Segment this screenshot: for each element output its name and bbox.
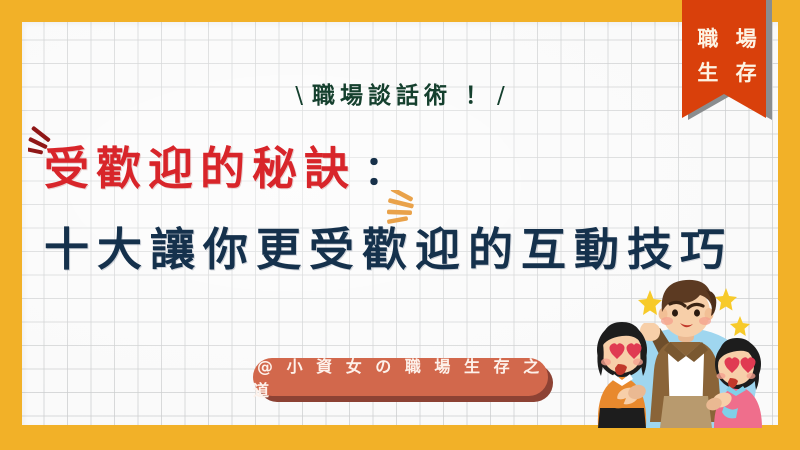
subtitle-slash-left: \	[291, 83, 312, 109]
three-people-cheering-illustration	[588, 268, 784, 428]
subtitle-slash-right: /	[493, 83, 514, 109]
ribbon-line-2: 生 存	[682, 56, 772, 90]
slide-canvas: 職 場 生 存 \職場談話術 ！/ 受歡迎的秘訣 ： 十	[0, 0, 800, 450]
subtitle: \職場談話術 ！/	[0, 76, 800, 110]
frame-band-bottom	[0, 425, 800, 450]
spark-mark-dark-red-icon	[28, 126, 62, 165]
frame-band-top	[0, 0, 800, 22]
subtitle-text: 職場談話術 ！	[312, 83, 493, 109]
title-line-1-text: 受歡迎的秘訣	[44, 142, 356, 196]
ribbon-text-block: 職 場 生 存	[682, 22, 772, 90]
corner-ribbon: 職 場 生 存	[682, 0, 772, 125]
handle-pill-wrapper: @ 小 資 女 の 職 場 生 存 之 道	[253, 358, 548, 396]
handle-pill: @ 小 資 女 の 職 場 生 存 之 道	[253, 358, 548, 396]
ribbon-line-1: 職 場	[682, 22, 772, 56]
title-line-1: 受歡迎的秘訣 ：	[44, 142, 404, 198]
spark-mark-orange-icon	[382, 190, 422, 233]
frame-band-left	[0, 0, 22, 450]
